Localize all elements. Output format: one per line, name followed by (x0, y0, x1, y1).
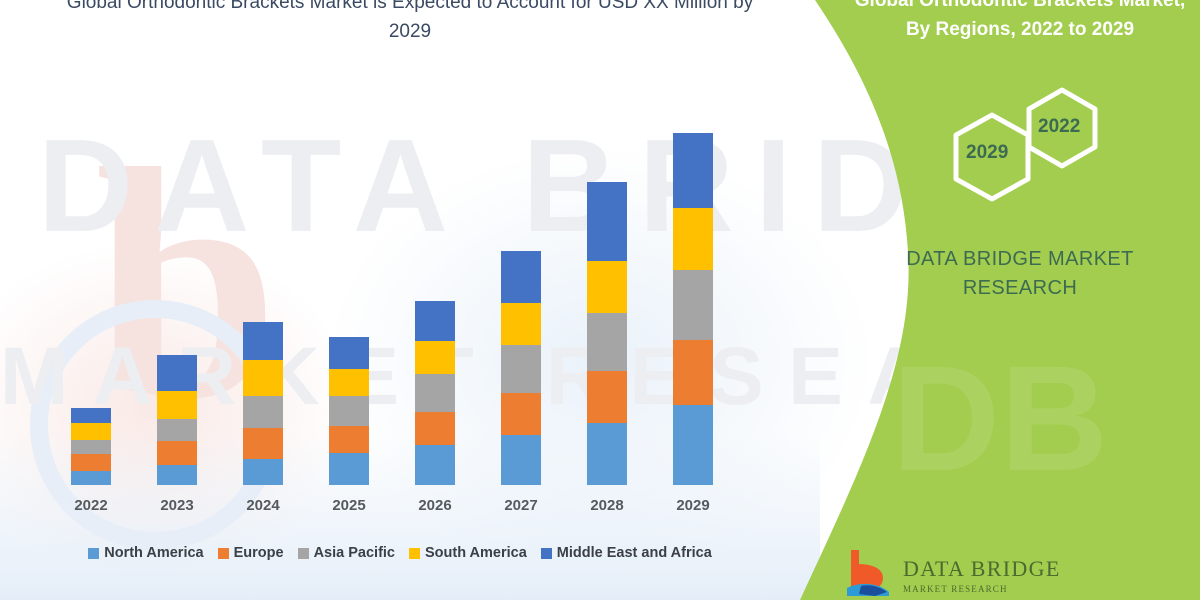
bar-segment-south-america[interactable] (501, 303, 541, 345)
chart-legend: North AmericaEuropeAsia PacificSouth Ame… (0, 541, 800, 565)
panel-title: Global Orthodontic Brackets Market, By R… (840, 0, 1200, 44)
x-axis-tick-2023: 2023 (137, 497, 217, 514)
bar-segment-asia-pacific[interactable] (71, 440, 111, 454)
bar-segment-south-america[interactable] (71, 423, 111, 440)
x-axis-tick-2024: 2024 (223, 497, 303, 514)
bar-segment-asia-pacific[interactable] (587, 313, 627, 371)
x-axis-tick-2028: 2028 (567, 497, 647, 514)
logo-text: DATA BRIDGE MARKET RESEARCH (903, 548, 1061, 594)
company-logo: DATA BRIDGE MARKET RESEARCH (845, 548, 1185, 600)
legend-swatch-icon (88, 548, 99, 559)
bar-segment-north-america[interactable] (243, 459, 283, 485)
bar-segment-north-america[interactable] (329, 453, 369, 485)
stacked-bar-chart: 20222023202420252026202720282029 (0, 0, 800, 530)
bar-segment-south-america[interactable] (673, 208, 713, 270)
bar-segment-north-america[interactable] (587, 423, 627, 485)
logo-subtitle: MARKET RESEARCH (903, 584, 1061, 594)
stacked-bar[interactable] (71, 408, 111, 485)
bar-segment-europe[interactable] (243, 428, 283, 459)
stacked-bar[interactable] (673, 133, 713, 485)
bar-segment-north-america[interactable] (157, 465, 197, 485)
x-axis-labels: 20222023202420252026202720282029 (0, 497, 800, 523)
legend-item-asia-pacific[interactable]: Asia Pacific (298, 545, 395, 561)
bar-segment-middle-east-and-africa[interactable] (71, 408, 111, 423)
bar-segment-asia-pacific[interactable] (329, 396, 369, 426)
legend-swatch-icon (298, 548, 309, 559)
bar-segment-europe[interactable] (587, 371, 627, 423)
bar-segment-europe[interactable] (157, 441, 197, 465)
legend-label: Asia Pacific (314, 545, 395, 561)
legend-swatch-icon (409, 548, 420, 559)
bar-segment-middle-east-and-africa[interactable] (415, 301, 455, 341)
bar-segment-europe[interactable] (673, 340, 713, 405)
panel-content: Global Orthodontic Brackets Market, By R… (840, 0, 1200, 600)
bar-segment-middle-east-and-africa[interactable] (587, 182, 627, 261)
x-axis-tick-2027: 2027 (481, 497, 561, 514)
panel-brand-line-2: RESEARCH (840, 274, 1200, 303)
bar-segment-europe[interactable] (415, 412, 455, 445)
bar-segment-middle-east-and-africa[interactable] (329, 337, 369, 369)
legend-label: Middle East and Africa (557, 545, 712, 561)
bar-segment-south-america[interactable] (329, 369, 369, 396)
bar-segment-north-america[interactable] (415, 445, 455, 485)
panel-brand-text: DATA BRIDGE MARKET RESEARCH (840, 245, 1200, 303)
legend-item-south-america[interactable]: South America (409, 545, 527, 561)
legend-label: South America (425, 545, 527, 561)
stacked-bar[interactable] (157, 355, 197, 485)
bar-segment-middle-east-and-africa[interactable] (243, 322, 283, 360)
legend-item-north-america[interactable]: North America (88, 545, 203, 561)
logo-title: DATA BRIDGE (903, 556, 1061, 582)
hexagon-label-2022: 2022 (1038, 116, 1080, 138)
bar-segment-europe[interactable] (501, 393, 541, 435)
stacked-bar[interactable] (587, 182, 627, 485)
bar-segment-south-america[interactable] (243, 360, 283, 396)
bar-segment-middle-east-and-africa[interactable] (501, 251, 541, 303)
bar-segment-south-america[interactable] (157, 391, 197, 419)
x-axis-tick-2026: 2026 (395, 497, 475, 514)
stacked-bar[interactable] (243, 322, 283, 485)
bar-segment-south-america[interactable] (587, 261, 627, 313)
x-axis-tick-2022: 2022 (51, 497, 131, 514)
legend-swatch-icon (218, 548, 229, 559)
plot-area (0, 0, 800, 486)
stacked-bar[interactable] (329, 337, 369, 485)
bar-segment-north-america[interactable] (673, 405, 713, 485)
stacked-bar[interactable] (501, 251, 541, 485)
legend-label: North America (104, 545, 203, 561)
bar-segment-middle-east-and-africa[interactable] (157, 355, 197, 391)
legend-item-europe[interactable]: Europe (218, 545, 284, 561)
bar-segment-middle-east-and-africa[interactable] (673, 133, 713, 208)
stacked-bar[interactable] (415, 301, 455, 485)
bar-segment-north-america[interactable] (501, 435, 541, 485)
bar-segment-asia-pacific[interactable] (501, 345, 541, 393)
bar-segment-asia-pacific[interactable] (157, 419, 197, 441)
legend-label: Europe (234, 545, 284, 561)
x-axis-tick-2029: 2029 (653, 497, 733, 514)
legend-swatch-icon (541, 548, 552, 559)
bar-segment-north-america[interactable] (71, 471, 111, 485)
panel-brand-line-1: DATA BRIDGE MARKET (840, 245, 1200, 274)
x-axis-tick-2025: 2025 (309, 497, 389, 514)
hexagon-group: 2029 2022 (930, 85, 1130, 220)
hexagon-label-2029: 2029 (966, 142, 1008, 164)
bar-segment-asia-pacific[interactable] (243, 396, 283, 428)
bar-segment-south-america[interactable] (415, 341, 455, 374)
bar-segment-asia-pacific[interactable] (415, 374, 455, 412)
bar-segment-europe[interactable] (71, 454, 111, 471)
chart-title: Global Orthodontic Brackets Market is Ex… (60, 0, 760, 46)
logo-b-icon (845, 548, 893, 596)
bar-segment-europe[interactable] (329, 426, 369, 453)
legend-item-middle-east-and-africa[interactable]: Middle East and Africa (541, 545, 712, 561)
bar-segment-asia-pacific[interactable] (673, 270, 713, 340)
